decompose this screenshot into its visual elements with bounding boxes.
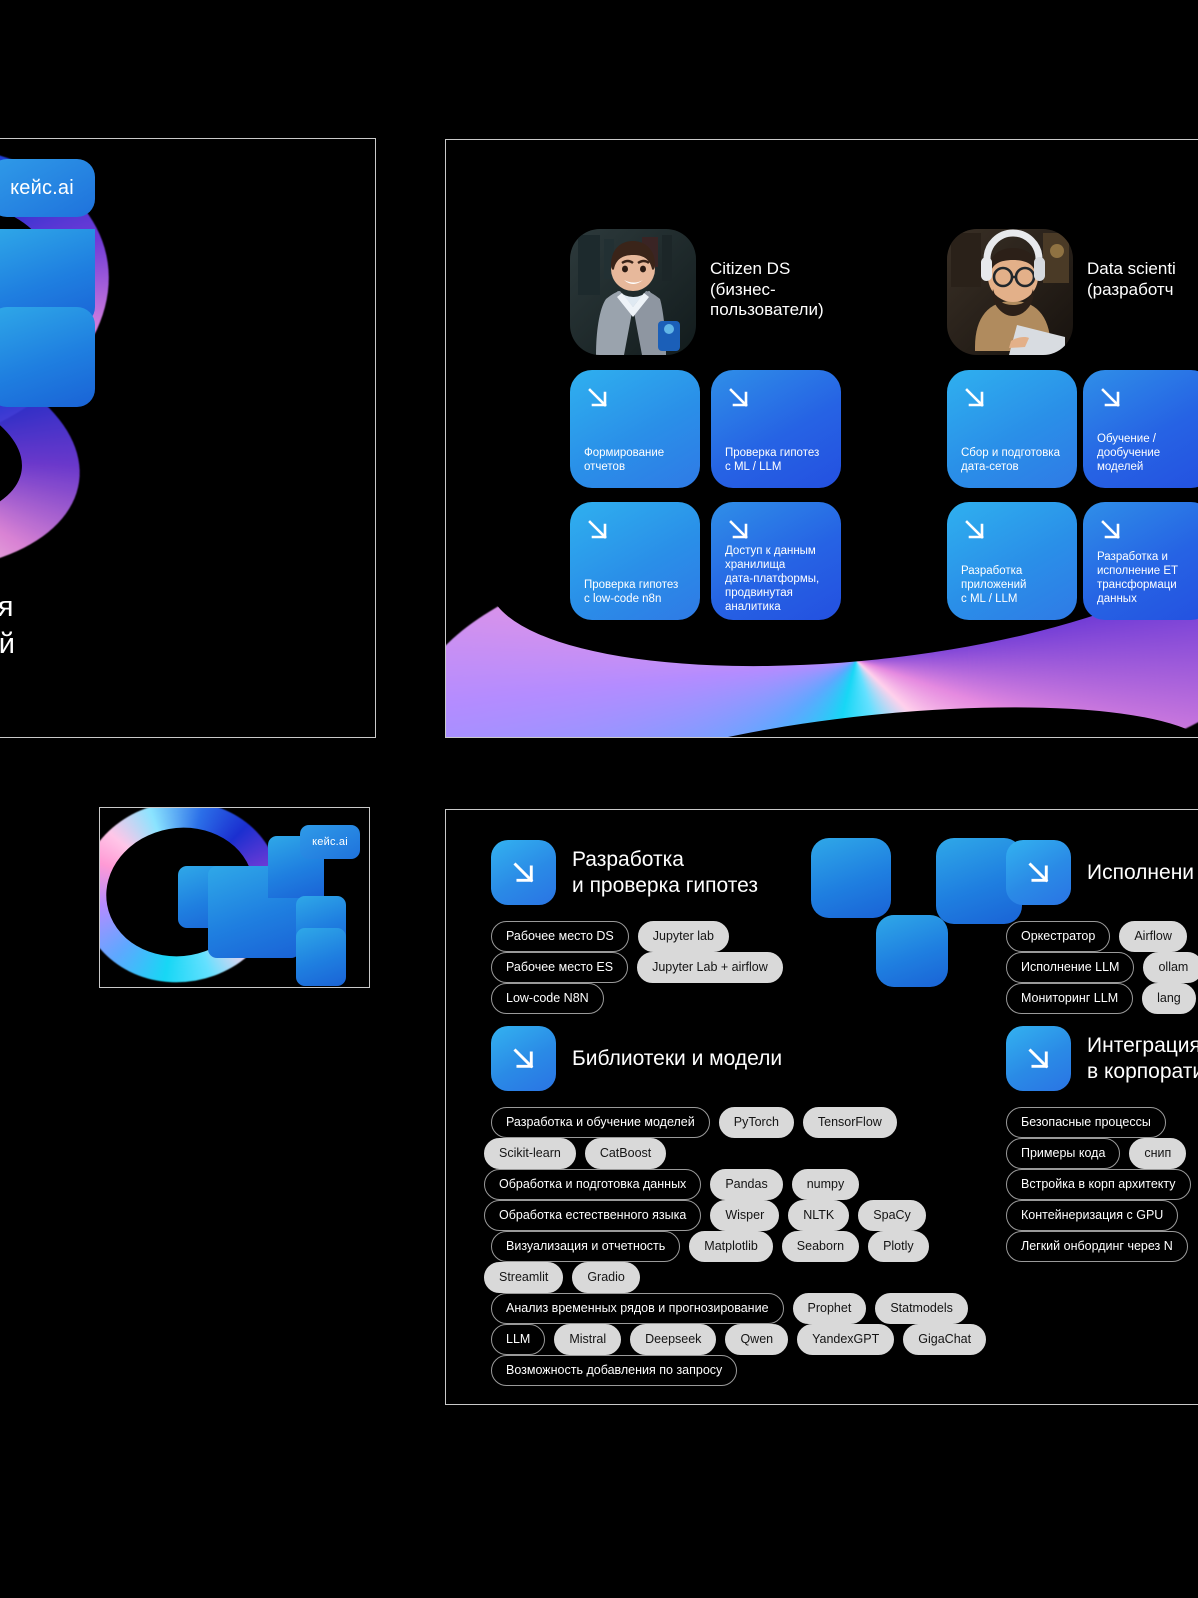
tile-citizen-1[interactable]: Формирование отчетов — [570, 370, 700, 488]
tile-ds-3[interactable]: Разработка приложений с ML / LLM — [947, 502, 1077, 620]
persona-data-scientist: Data scienti (разработч — [947, 229, 1176, 355]
slide-deck-canvas: кейс.ai ор инструментов для работки ИИ-р… — [0, 0, 1198, 1598]
logo-block-thumb-e — [296, 928, 346, 986]
section-title: Разработка и проверка гипотез — [572, 847, 758, 897]
persona-citizen-ds: Citizen DS (бизнес- пользователи) — [570, 229, 824, 355]
arrow-down-right-icon — [1006, 1026, 1071, 1091]
tag[interactable]: Prophet — [793, 1293, 867, 1324]
tag[interactable]: numpy — [792, 1169, 860, 1200]
tag-row: Оркестратор Airflow — [1006, 921, 1187, 952]
arrow-down-right-icon — [961, 384, 989, 412]
tag-row: Контейнеризация с GPU — [1006, 1200, 1178, 1231]
tag-row: Обработка естественного языка Wisper NLT… — [484, 1200, 926, 1231]
tag-row: Легкий онбординг через N — [1006, 1231, 1188, 1262]
tile-label: Разработка приложений с ML / LLM — [961, 564, 1063, 606]
tag[interactable]: Безопасные процессы — [1006, 1107, 1166, 1138]
tag-row: Визуализация и отчетность Matplotlib Sea… — [491, 1231, 929, 1262]
panel-thumbnail-slide[interactable]: кейс.ai — [99, 807, 370, 988]
hero-title: ор инструментов для работки ИИ-решений п… — [0, 589, 369, 700]
section-head-libraries-models: Библиотеки и модели — [491, 1026, 782, 1091]
tag[interactable]: Gradio — [572, 1262, 640, 1293]
tag[interactable]: Контейнеризация с GPU — [1006, 1200, 1178, 1231]
tag-row: Low-code N8N — [491, 983, 604, 1014]
tag[interactable]: Обработка и подготовка данных — [484, 1169, 701, 1200]
tile-citizen-3[interactable]: Проверка гипотез с low-code n8n — [570, 502, 700, 620]
tag-row: Рабочее место DS Jupyter lab — [491, 921, 729, 952]
arrow-down-right-icon — [725, 384, 753, 412]
arrow-down-right-icon — [1006, 840, 1071, 905]
tag[interactable]: YandexGPT — [797, 1324, 894, 1355]
tile-label: Проверка гипотез с ML / LLM — [725, 446, 827, 474]
tag[interactable]: TensorFlow — [803, 1107, 897, 1138]
tag[interactable]: Рабочее место ES — [491, 952, 628, 983]
tag[interactable]: Matplotlib — [689, 1231, 773, 1262]
tag[interactable]: Обработка естественного языка — [484, 1200, 701, 1231]
thumbnail-artwork: кейс.ai — [100, 808, 369, 987]
tag[interactable]: LLM — [491, 1324, 545, 1355]
section-title: Исполнени — [1087, 860, 1194, 885]
section-title: Интеграция в корпорати — [1087, 1033, 1198, 1083]
tag[interactable]: Исполнение LLM — [1006, 952, 1134, 983]
section-head-integration: Интеграция в корпорати — [1006, 1026, 1198, 1091]
tag[interactable]: NLTK — [788, 1200, 849, 1231]
arrow-down-right-icon — [584, 516, 612, 544]
tag[interactable]: lang — [1142, 983, 1196, 1014]
panel-hero-slide[interactable]: кейс.ai ор инструментов для работки ИИ-р… — [0, 138, 376, 738]
tile-label: Проверка гипотез с low-code n8n — [584, 578, 686, 606]
logo-block-tools-a — [811, 838, 891, 918]
tag[interactable]: Встройка в корп архитекту — [1006, 1169, 1191, 1200]
arrow-down-right-icon — [584, 384, 612, 412]
tag-row: Streamlit Gradio — [484, 1262, 640, 1293]
tag[interactable]: Deepseek — [630, 1324, 716, 1355]
tile-citizen-4[interactable]: Доступ к данным хранилища дата-платформы… — [711, 502, 841, 620]
tag-row: Встройка в корп архитекту — [1006, 1169, 1191, 1200]
tag[interactable]: Оркестратор — [1006, 921, 1110, 952]
arrow-down-right-icon — [1097, 384, 1125, 412]
tag[interactable]: SpaCy — [858, 1200, 926, 1231]
tag[interactable]: Pandas — [710, 1169, 782, 1200]
panel-tools-slide[interactable]: Разработка и проверка гипотез Рабочее ме… — [445, 809, 1198, 1405]
tag-row: Примеры кода снип — [1006, 1138, 1186, 1169]
tag[interactable]: ollam — [1143, 952, 1198, 983]
avatar-citizen-ds — [570, 229, 696, 355]
tile-label: Доступ к данным хранилища дата-платформы… — [725, 544, 827, 614]
tag[interactable]: Qwen — [725, 1324, 788, 1355]
section-head-dev-hypotheses: Разработка и проверка гипотез — [491, 840, 758, 905]
tag[interactable]: Анализ временных рядов и прогнозирование — [491, 1293, 784, 1324]
brand-chip-label: кейс.ai — [10, 177, 74, 200]
tag[interactable]: Streamlit — [484, 1262, 563, 1293]
tag-row: Обработка и подготовка данных Pandas num… — [484, 1169, 859, 1200]
section-title: Библиотеки и модели — [572, 1046, 782, 1071]
panel-personas-slide[interactable]: Citizen DS (бизнес- пользователи) Формир… — [445, 139, 1198, 738]
tag-row: Исполнение LLM ollam — [1006, 952, 1198, 983]
tag[interactable]: Jupyter lab — [638, 921, 729, 952]
tile-ds-1[interactable]: Сбор и подготовка дата-сетов — [947, 370, 1077, 488]
persona-name-data-scientist: Data scienti (разработч — [1087, 229, 1176, 300]
tag[interactable]: Seaborn — [782, 1231, 859, 1262]
tag-row: Scikit-learn CatBoost — [484, 1138, 666, 1169]
avatar-data-scientist — [947, 229, 1073, 355]
tag[interactable]: Mistral — [554, 1324, 621, 1355]
tile-ds-2[interactable]: Обучение / дообучение моделей — [1083, 370, 1198, 488]
tag-row: LLM Mistral Deepseek Qwen YandexGPT Giga… — [491, 1324, 986, 1355]
tag[interactable]: CatBoost — [585, 1138, 666, 1169]
tag[interactable]: Jupyter Lab + airflow — [637, 952, 783, 983]
brand-chip-label: кейс.ai — [312, 836, 348, 848]
tag-row: Возможность добавления по запросу — [491, 1355, 737, 1386]
tile-citizen-2[interactable]: Проверка гипотез с ML / LLM — [711, 370, 841, 488]
tag-row: Безопасные процессы — [1006, 1107, 1166, 1138]
brand-chip-hero[interactable]: кейс.ai — [0, 159, 95, 217]
persona-name-citizen-ds: Citizen DS (бизнес- пользователи) — [710, 229, 824, 321]
tag[interactable]: Рабочее место DS — [491, 921, 629, 952]
section-head-execution: Исполнени — [1006, 840, 1194, 905]
tile-label: Формирование отчетов — [584, 446, 686, 474]
tile-label: Обучение / дообучение моделей — [1097, 432, 1198, 474]
arrow-down-right-icon — [725, 516, 753, 544]
tag[interactable]: Scikit-learn — [484, 1138, 576, 1169]
tag[interactable]: GigaChat — [903, 1324, 986, 1355]
logo-block-bottom-right — [0, 307, 95, 407]
tag[interactable]: Wisper — [710, 1200, 779, 1231]
arrow-down-right-icon — [1097, 516, 1125, 544]
tag[interactable]: Визуализация и отчетность — [491, 1231, 680, 1262]
brand-chip-thumb[interactable]: кейс.ai — [300, 825, 360, 859]
tag[interactable]: Легкий онбординг через N — [1006, 1231, 1188, 1262]
tag-row: Разработка и обучение моделей PyTorch Te… — [491, 1107, 897, 1138]
tag-row: Мониторинг LLM lang — [1006, 983, 1196, 1014]
tag[interactable]: PyTorch — [719, 1107, 794, 1138]
arrow-down-right-icon — [491, 840, 556, 905]
tile-label: Разработка и исполнение ET трансформаци … — [1097, 550, 1198, 606]
tag[interactable]: Statmodels — [875, 1293, 968, 1324]
tag[interactable]: Примеры кода — [1006, 1138, 1120, 1169]
tile-ds-4[interactable]: Разработка и исполнение ET трансформаци … — [1083, 502, 1198, 620]
tag[interactable]: снип — [1129, 1138, 1186, 1169]
tag-row: Рабочее место ES Jupyter Lab + airflow — [491, 952, 783, 983]
tag[interactable]: Разработка и обучение моделей — [491, 1107, 710, 1138]
tag[interactable]: Low-code N8N — [491, 983, 604, 1014]
arrow-down-right-icon — [491, 1026, 556, 1091]
tag[interactable]: Возможность добавления по запросу — [491, 1355, 737, 1386]
tag[interactable]: Мониторинг LLM — [1006, 983, 1133, 1014]
tile-label: Сбор и подготовка дата-сетов — [961, 446, 1063, 474]
arrow-down-right-icon — [961, 516, 989, 544]
logo-block-tools-b — [876, 915, 948, 987]
tag[interactable]: Plotly — [868, 1231, 929, 1262]
tag[interactable]: Airflow — [1119, 921, 1187, 952]
tag-row: Анализ временных рядов и прогнозирование… — [491, 1293, 968, 1324]
